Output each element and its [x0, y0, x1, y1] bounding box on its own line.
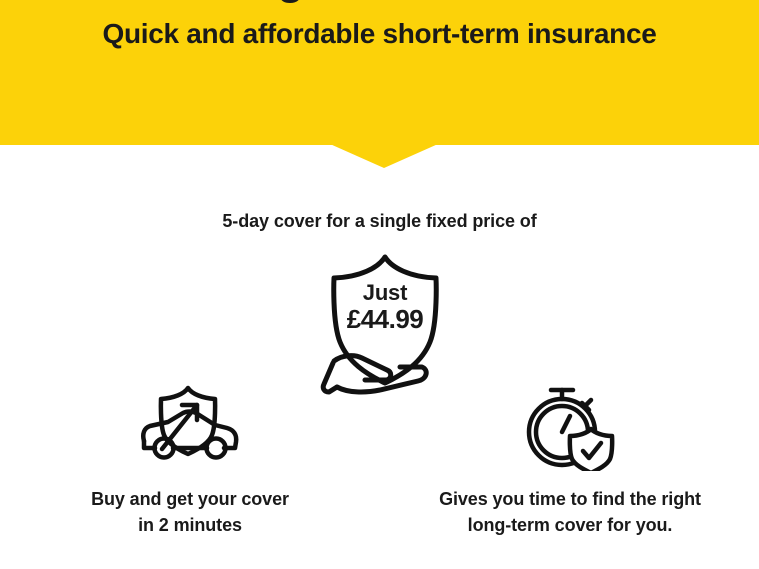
shield-in-hand-icon	[310, 250, 460, 395]
car-with-shield-and-up-arrow-icon	[40, 380, 340, 472]
caption-line-2: long-term cover for you.	[420, 512, 720, 538]
price-lead-text: 5-day cover for a single fixed price of	[0, 211, 759, 232]
feature-buy-fast: Buy and get your cover in 2 minutes	[40, 380, 340, 538]
caption-line-1: Buy and get your cover	[40, 486, 340, 512]
down-arrow-notch-icon	[330, 144, 438, 168]
feature-buy-fast-caption: Buy and get your cover in 2 minutes	[40, 486, 340, 538]
caption-line-1: Gives you time to find the right	[420, 486, 720, 512]
promo-page: Going somewhere? Quick and affordable sh…	[0, 0, 759, 569]
banner-subtitle: Quick and affordable short-term insuranc…	[0, 17, 759, 51]
banner-title-clipped: Going somewhere?	[0, 0, 759, 4]
hero-banner: Going somewhere? Quick and affordable sh…	[0, 0, 759, 145]
feature-more-time: Gives you time to find the right long-te…	[420, 380, 720, 538]
caption-line-2: in 2 minutes	[40, 512, 340, 538]
feature-more-time-caption: Gives you time to find the right long-te…	[420, 486, 720, 538]
stopwatch-with-check-shield-icon	[420, 380, 720, 472]
